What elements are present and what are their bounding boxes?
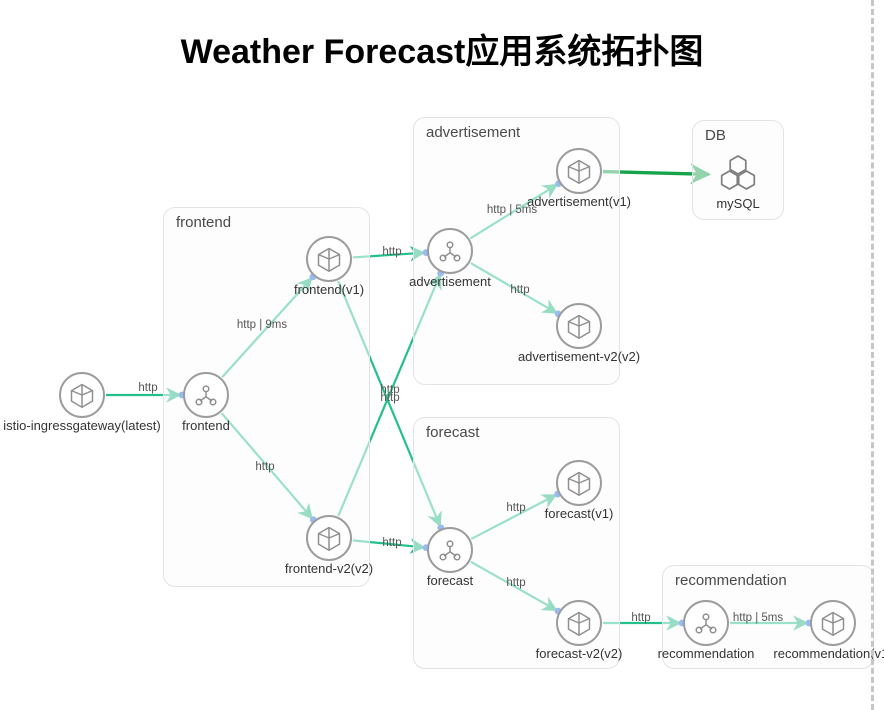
node-icon-recommendation-v1 (810, 600, 856, 646)
node-label-forecast-v2: forecast-v2(v2) (536, 646, 623, 661)
cube-icon (315, 524, 343, 552)
node-label-recommendation-v1: recommendation(v1) (773, 646, 884, 661)
service-icon (192, 381, 220, 409)
right-dashed-rule (871, 0, 874, 710)
node-icon-forecast-v1 (556, 460, 602, 506)
node-mysql[interactable]: mySQL (715, 152, 761, 198)
service-icon (436, 237, 464, 265)
group-label-advertisement: advertisement (426, 124, 520, 141)
group-label-recommendation: recommendation (675, 572, 787, 589)
cube-icon (819, 609, 847, 637)
node-frontend-svc[interactable]: frontend (183, 372, 229, 418)
node-advertisement-v2[interactable]: advertisement-v2(v2) (556, 303, 602, 349)
node-label-frontend-svc: frontend (182, 418, 230, 433)
node-recommendation-svc[interactable]: recommendation (683, 600, 729, 646)
cube-icon (565, 609, 593, 637)
mysql-icon (716, 154, 760, 196)
node-label-advertisement-v2: advertisement-v2(v2) (518, 349, 640, 364)
node-recommendation-v1[interactable]: recommendation(v1) (810, 600, 856, 646)
node-label-advertisement-svc: advertisement (409, 274, 491, 289)
service-icon (692, 609, 720, 637)
node-label-forecast-svc: forecast (427, 573, 473, 588)
node-icon-advertisement-svc (427, 228, 473, 274)
group-label-db: DB (705, 127, 726, 144)
node-label-advertisement-v1: advertisement(v1) (527, 194, 631, 209)
node-icon-frontend-v2 (306, 515, 352, 561)
node-label-recommendation-svc: recommendation (658, 646, 755, 661)
node-forecast-svc[interactable]: forecast (427, 527, 473, 573)
node-label-frontend-v2: frontend-v2(v2) (285, 561, 373, 576)
node-forecast-v1[interactable]: forecast(v1) (556, 460, 602, 506)
group-label-frontend: frontend (176, 214, 231, 231)
node-advertisement-v1[interactable]: advertisement(v1) (556, 148, 602, 194)
service-icon (436, 536, 464, 564)
node-icon-frontend-v1 (306, 236, 352, 282)
node-frontend-v1[interactable]: frontend(v1) (306, 236, 352, 282)
cube-icon (565, 469, 593, 497)
node-ingress[interactable]: istio-ingressgateway(latest) (59, 372, 105, 418)
node-frontend-v2[interactable]: frontend-v2(v2) (306, 515, 352, 561)
node-label-mysql: mySQL (716, 196, 759, 211)
node-icon-forecast-v2 (556, 600, 602, 646)
cube-icon (565, 157, 593, 185)
cube-icon (565, 312, 593, 340)
node-advertisement-svc[interactable]: advertisement (427, 228, 473, 274)
cube-icon (315, 245, 343, 273)
node-icon-forecast-svc (427, 527, 473, 573)
topology-canvas[interactable]: Weather Forecast应用系统拓扑图 frontendadvertis… (0, 0, 884, 710)
cube-icon (68, 381, 96, 409)
node-label-frontend-v1: frontend(v1) (294, 282, 364, 297)
node-icon-advertisement-v1 (556, 148, 602, 194)
node-label-ingress: istio-ingressgateway(latest) (3, 418, 161, 433)
node-icon-recommendation-svc (683, 600, 729, 646)
node-label-forecast-v1: forecast(v1) (545, 506, 614, 521)
group-label-forecast: forecast (426, 424, 479, 441)
node-icon-ingress (59, 372, 105, 418)
node-icon-frontend-svc (183, 372, 229, 418)
node-icon-advertisement-v2 (556, 303, 602, 349)
node-forecast-v2[interactable]: forecast-v2(v2) (556, 600, 602, 646)
node-icon-mysql (715, 152, 761, 198)
